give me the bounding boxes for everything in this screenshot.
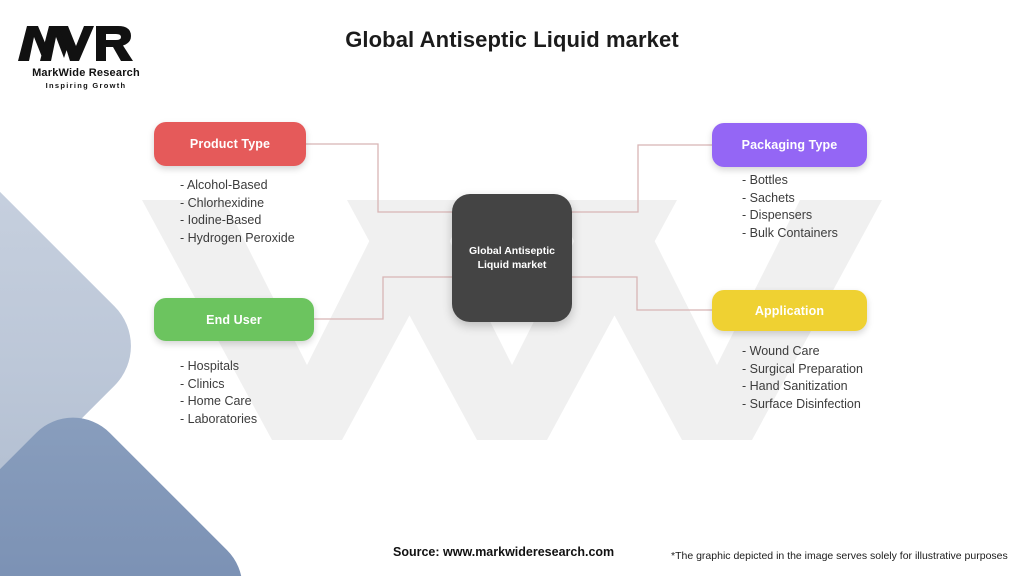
- branch-items-product-type: - Alcohol-Based - Chlorhexidine - Iodine…: [180, 177, 295, 247]
- branch-label-application: Application: [755, 304, 824, 318]
- connector-product-type: [306, 144, 452, 212]
- center-node-line2: Liquid market: [478, 259, 547, 271]
- branch-items-packaging-type: - Bottles - Sachets - Dispensers - Bulk …: [742, 172, 838, 242]
- list-item: - Clinics: [180, 376, 257, 394]
- branch-header-application[interactable]: Application: [712, 290, 867, 331]
- logo-company-name: MarkWide Research: [16, 67, 156, 79]
- logo-tagline: Inspiring Growth: [16, 81, 156, 90]
- connector-end-user: [314, 277, 452, 319]
- branch-label-packaging-type: Packaging Type: [742, 138, 838, 152]
- branch-header-product-type[interactable]: Product Type: [154, 122, 306, 166]
- connector-application: [572, 277, 712, 310]
- branch-label-end-user: End User: [206, 313, 262, 327]
- center-node-label: Global Antiseptic Liquid market: [469, 244, 555, 272]
- connector-packaging-type: [572, 145, 712, 212]
- list-item: - Iodine-Based: [180, 212, 295, 230]
- list-item: - Surgical Preparation: [742, 361, 863, 379]
- list-item: - Laboratories: [180, 411, 257, 429]
- center-node: Global Antiseptic Liquid market: [452, 194, 572, 322]
- branch-items-application: - Wound Care - Surgical Preparation - Ha…: [742, 343, 863, 413]
- list-item: - Surface Disinfection: [742, 396, 863, 414]
- list-item: - Hand Sanitization: [742, 378, 863, 396]
- list-item: - Hydrogen Peroxide: [180, 230, 295, 248]
- branch-items-end-user: - Hospitals - Clinics - Home Care - Labo…: [180, 358, 257, 428]
- list-item: - Wound Care: [742, 343, 863, 361]
- list-item: - Alcohol-Based: [180, 177, 295, 195]
- list-item: - Home Care: [180, 393, 257, 411]
- center-node-line1: Global Antiseptic: [469, 245, 555, 257]
- page-title: Global Antiseptic Liquid market: [0, 27, 1024, 53]
- source-text: Source: www.markwideresearch.com: [393, 545, 614, 559]
- infographic-canvas: MarkWide Research Inspiring Growth Globa…: [0, 0, 1024, 576]
- branch-header-end-user[interactable]: End User: [154, 298, 314, 341]
- list-item: - Bulk Containers: [742, 225, 838, 243]
- list-item: - Dispensers: [742, 207, 838, 225]
- branch-header-packaging-type[interactable]: Packaging Type: [712, 123, 867, 167]
- list-item: - Bottles: [742, 172, 838, 190]
- branch-label-product-type: Product Type: [190, 137, 270, 151]
- list-item: - Sachets: [742, 190, 838, 208]
- list-item: - Hospitals: [180, 358, 257, 376]
- list-item: - Chlorhexidine: [180, 195, 295, 213]
- disclaimer-text: *The graphic depicted in the image serve…: [671, 550, 1008, 562]
